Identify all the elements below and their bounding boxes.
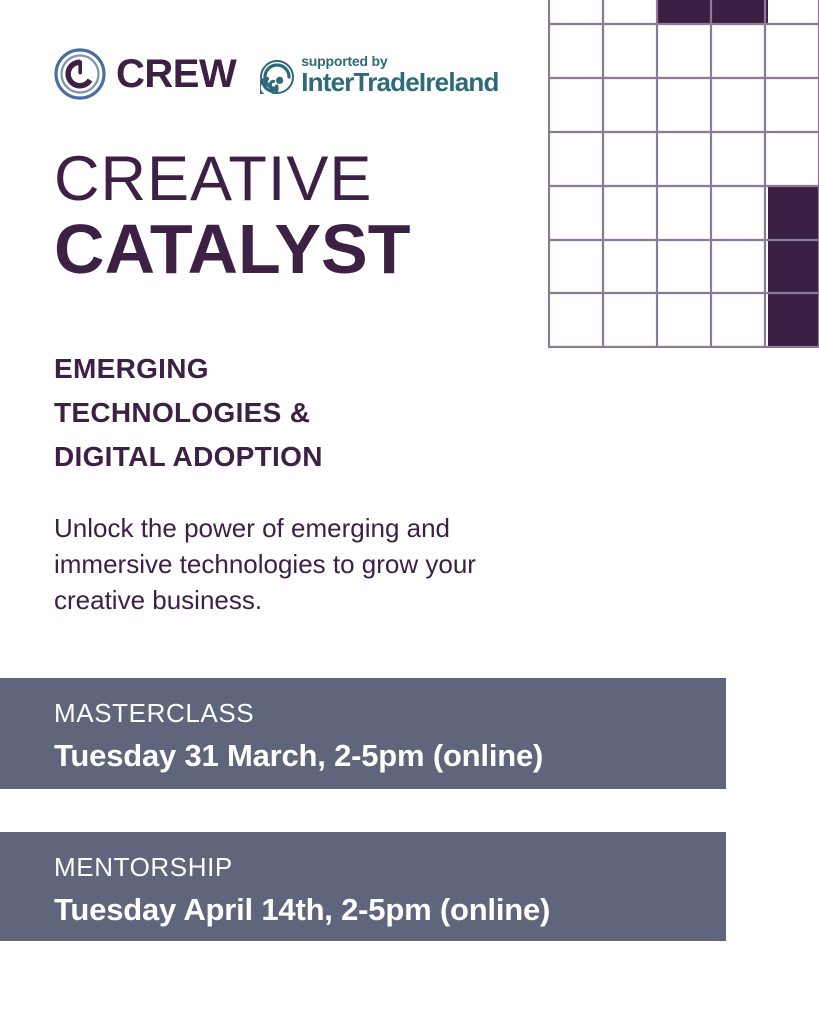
- intertradeireland-logo: supported by InterTradeIreland: [260, 54, 498, 95]
- subtitle: EMERGING TECHNOLOGIES & DIGITAL ADOPTION: [54, 347, 524, 480]
- headline-line-creative: CREATIVE: [54, 148, 534, 211]
- subtitle-line-3: DIGITAL ADOPTION: [54, 435, 524, 479]
- intertradeireland-text: supported by InterTradeIreland: [301, 54, 498, 95]
- supported-by-label: supported by: [301, 54, 498, 68]
- event-type-label-mentorship: MENTORSHIP: [54, 832, 726, 880]
- crew-wordmark: CREW: [116, 54, 236, 94]
- grid-filled-cell-right: [768, 185, 819, 348]
- event-datetime-masterclass: Tuesday 31 March, 2-5pm (online): [54, 726, 726, 771]
- description-text: Unlock the power of emerging and immersi…: [54, 511, 564, 619]
- event-band-mentorship: MENTORSHIP Tuesday April 14th, 2-5pm (on…: [0, 832, 726, 941]
- intertradeireland-spiral-mark-icon: [260, 60, 294, 94]
- event-datetime-mentorship: Tuesday April 14th, 2-5pm (online): [54, 880, 726, 925]
- grid-pattern-svg: [548, 0, 819, 348]
- headline-line-catalyst: CATALYST: [54, 213, 534, 287]
- subtitle-line-1: EMERGING: [54, 347, 524, 391]
- event-type-label-masterclass: MASTERCLASS: [54, 678, 726, 726]
- subtitle-line-2: TECHNOLOGIES &: [54, 391, 524, 435]
- logo-row: CREW supported by InterTradeIreland: [54, 48, 499, 100]
- page-title: CREATIVE CATALYST: [54, 148, 534, 287]
- event-band-masterclass: MASTERCLASS Tuesday 31 March, 2-5pm (onl…: [0, 678, 726, 789]
- intertradeireland-wordmark: InterTradeIreland: [301, 69, 498, 95]
- crew-logo: CREW: [54, 48, 236, 100]
- grid-pattern-decoration: [548, 0, 819, 348]
- crew-circle-mark-icon: [54, 48, 106, 100]
